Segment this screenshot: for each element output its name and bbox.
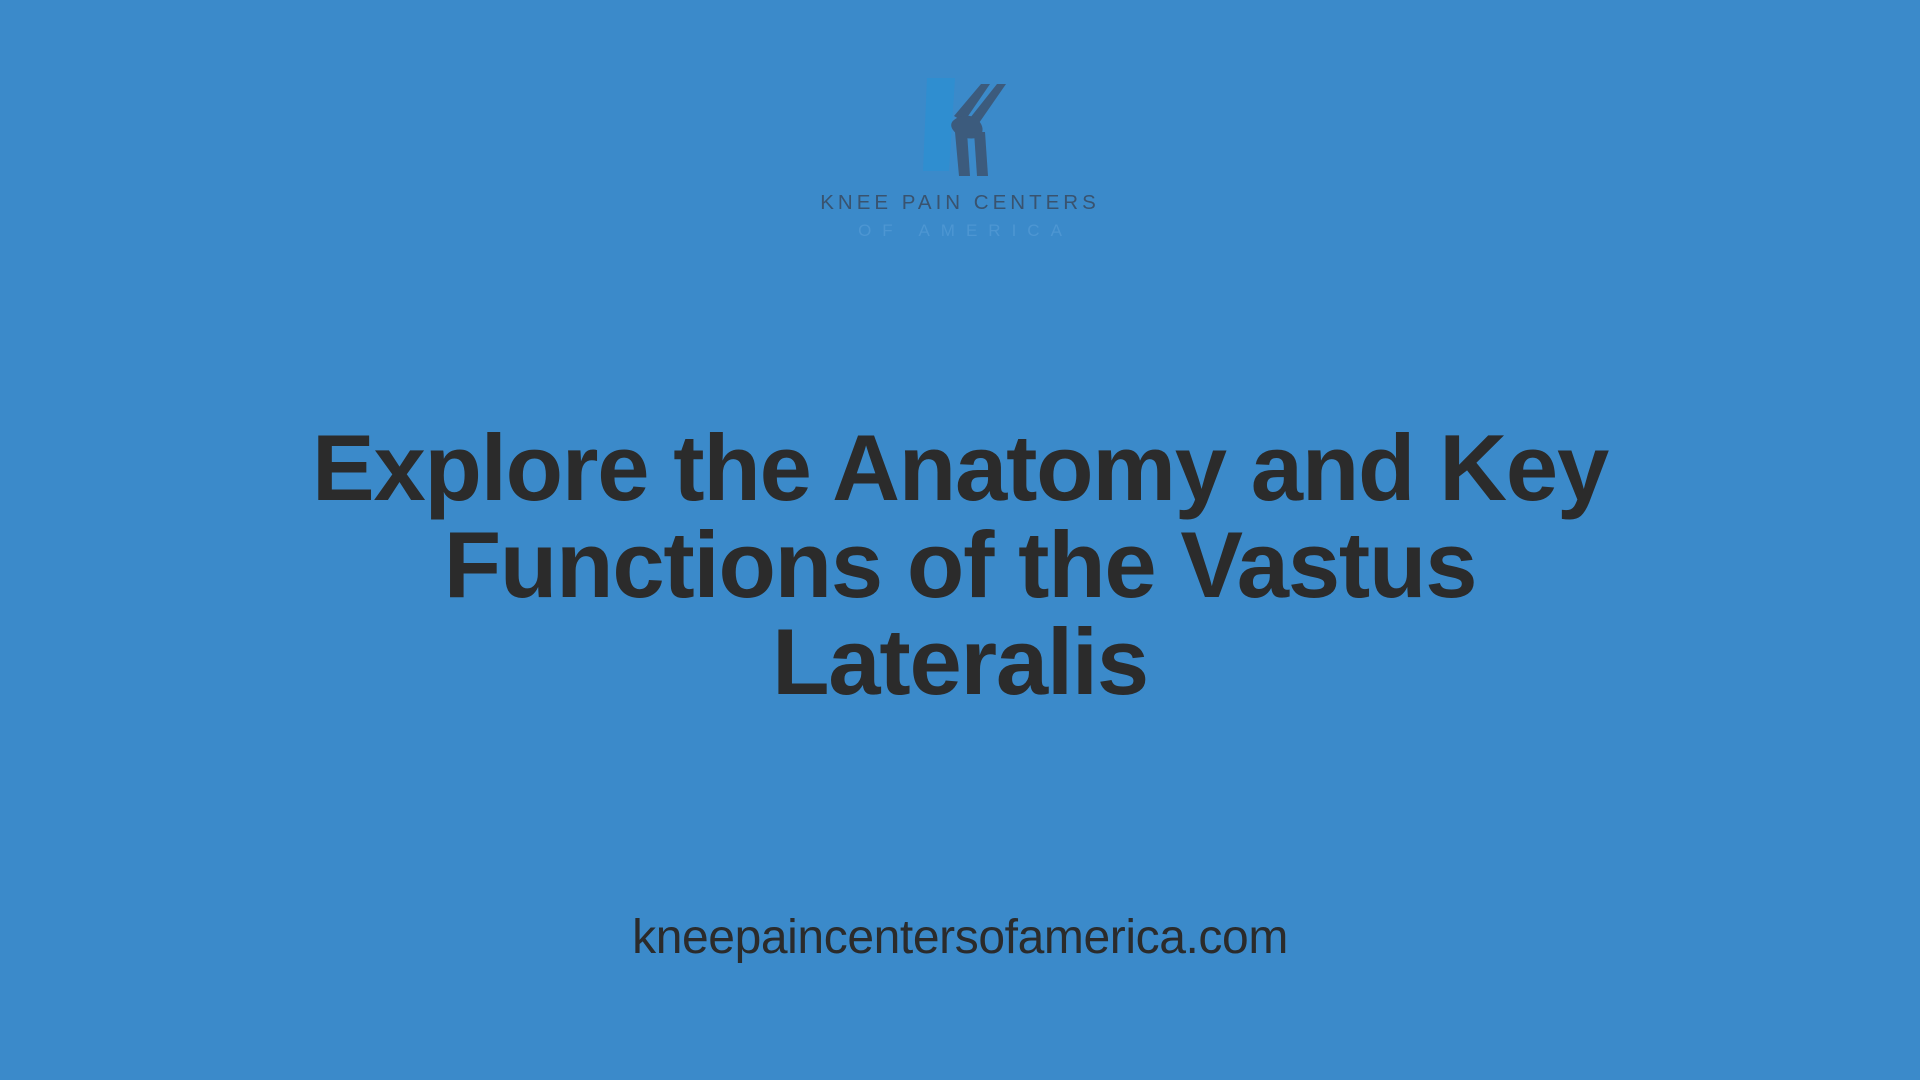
headline-line-1: Explore the Anatomy and Key [220,420,1700,517]
logo-subwordmark: OF AMERICA [847,222,1073,239]
headline-line-3: Lateralis [220,614,1700,711]
logo-wordmark: KNEE PAIN CENTERS [820,193,1100,214]
brand-logo[interactable]: KNEE PAIN CENTERS OF AMERICA [795,76,1125,239]
headline-line-2: Functions of the Vastus [220,517,1700,614]
knee-joint-k-monogram-icon [897,76,1023,184]
page-title: Explore the Anatomy and Key Functions of… [220,420,1700,710]
website-url[interactable]: kneepaincentersofamerica.com [632,914,1288,962]
title-slide: KNEE PAIN CENTERS OF AMERICA Explore the… [0,0,1920,1080]
